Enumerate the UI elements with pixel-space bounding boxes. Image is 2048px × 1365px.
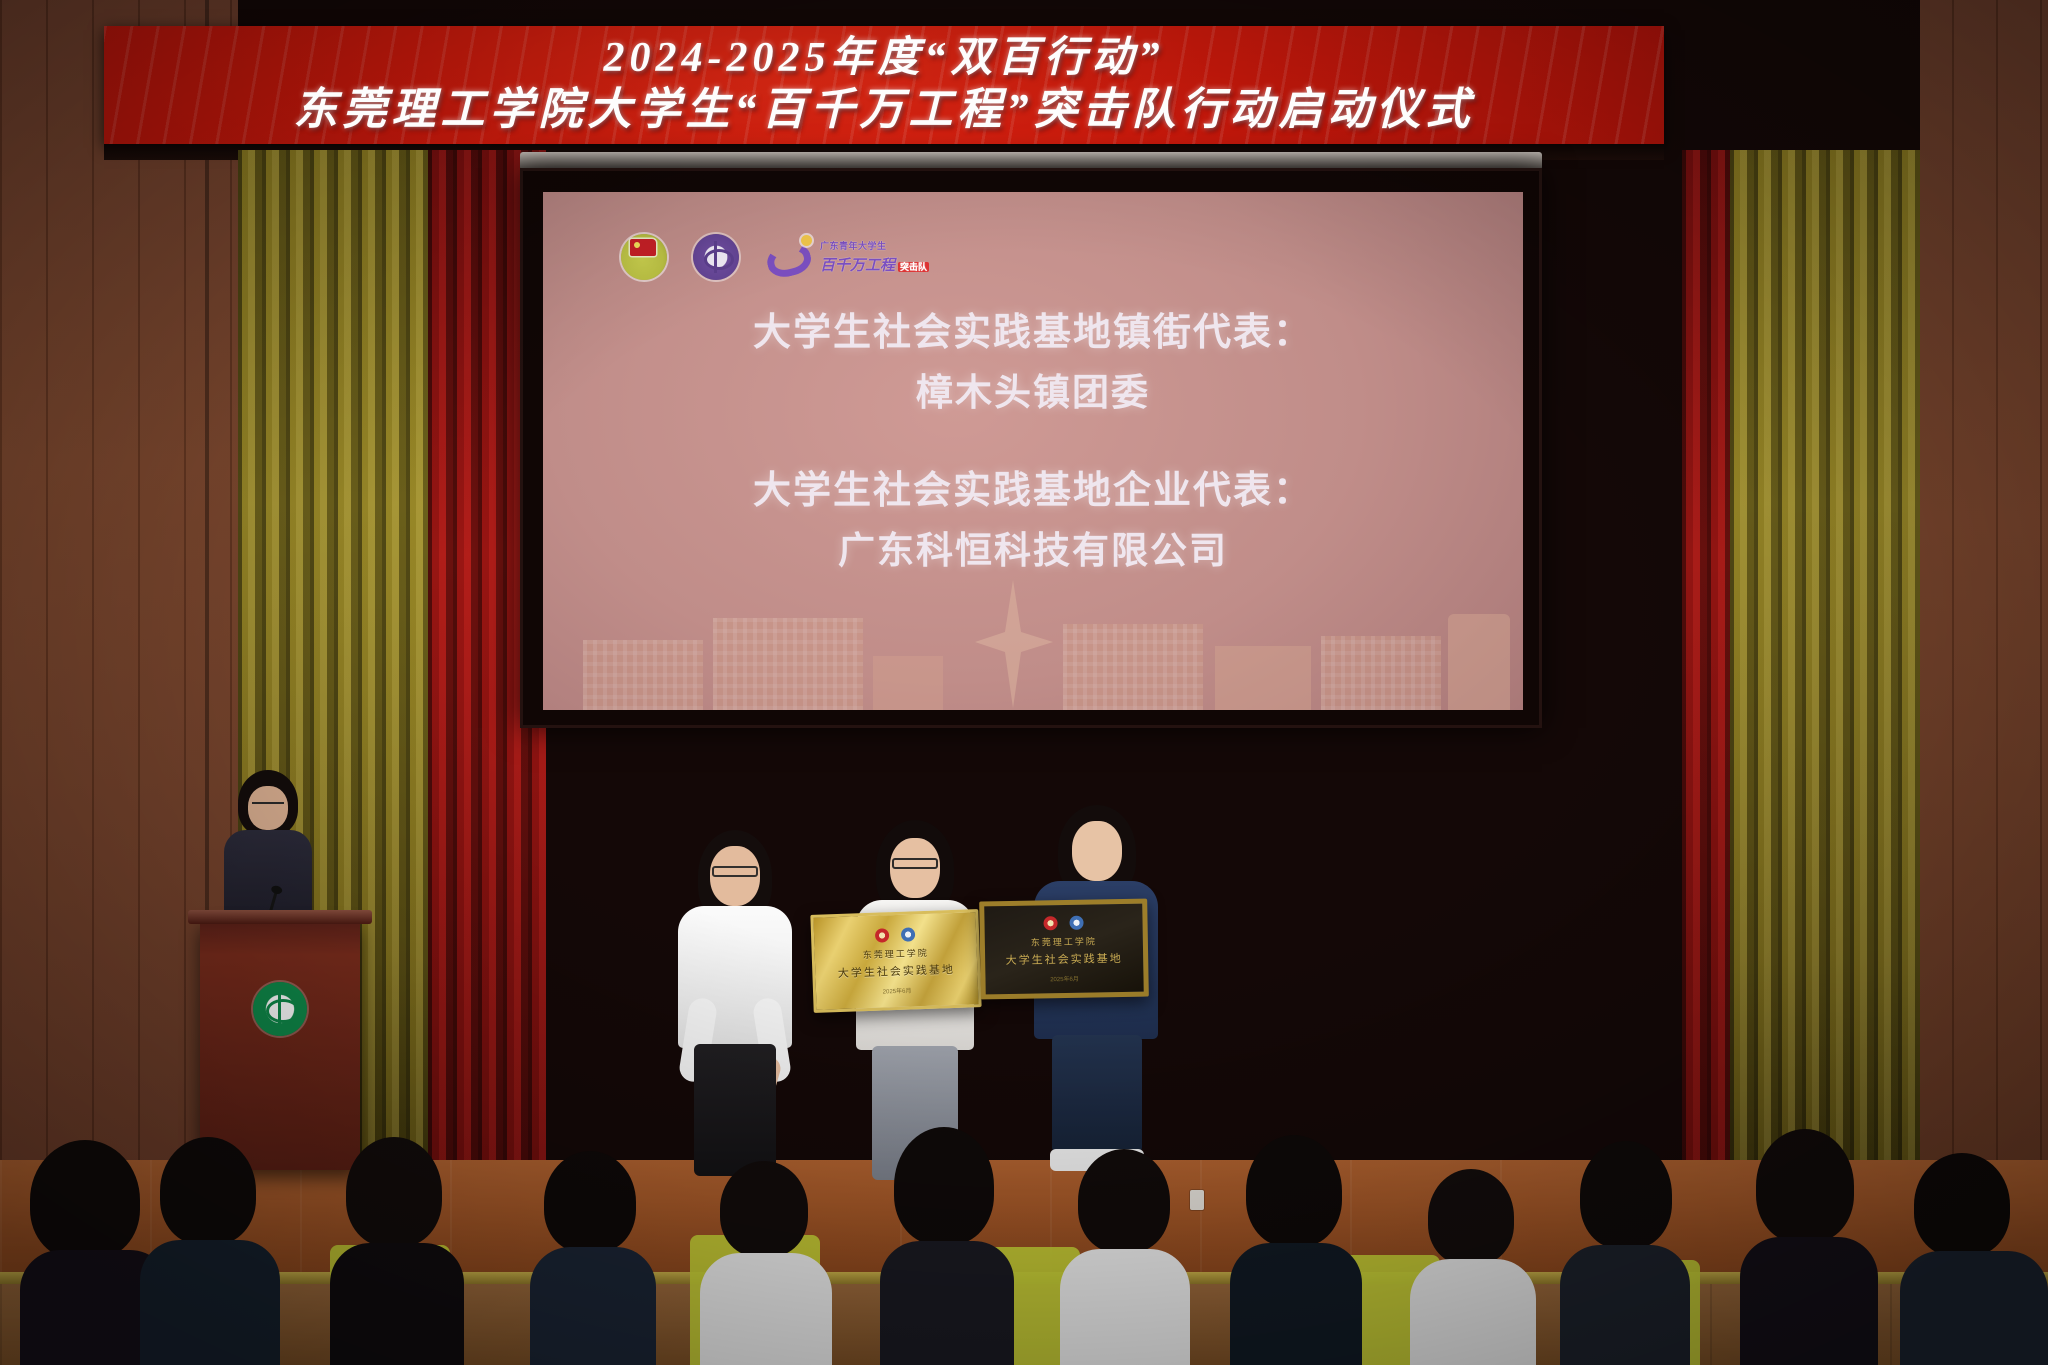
- slide-block-2-value: 广东科恒科技有限公司: [543, 520, 1523, 582]
- podium-top: [188, 910, 372, 924]
- glasses-icon: [712, 866, 758, 877]
- plaque-date: 2025年6月: [883, 985, 912, 995]
- red-seal-icon: [875, 928, 889, 942]
- plaque-line-1: 东莞理工学院: [1031, 934, 1097, 948]
- university-green-emblem-icon: [253, 982, 307, 1036]
- stage-person-usher: [660, 830, 810, 1175]
- banner-line-1: 2024-2025年度“双百行动”: [604, 33, 1165, 83]
- slide-block-2-heading: 大学生社会实践基地企业代表：: [543, 462, 1523, 520]
- award-plaque-dark: 东莞理工学院 大学生社会实践基地 2025年6月: [979, 899, 1149, 1000]
- baiqianwan-project-commando-logo: 广东青年大学生 百千万工程突击队: [765, 234, 929, 280]
- dongguan-university-of-technology-emblem-icon: [693, 234, 739, 280]
- slide-block-1-value: 樟木头镇团委: [543, 362, 1523, 424]
- bqw-logo-badge: 突击队: [898, 262, 929, 272]
- communist-youth-league-emblem-icon: [621, 234, 667, 280]
- award-plaque-gold: 东莞理工学院 大学生社会实践基地 2025年6月: [810, 909, 981, 1013]
- plaque-date: 2025年6月: [1050, 973, 1079, 982]
- person-trousers: [1052, 1035, 1142, 1153]
- slide-logo-row: 广东青年大学生 百千万工程突击队: [621, 234, 929, 280]
- glasses-icon: [892, 858, 938, 869]
- podium: [200, 920, 360, 1170]
- slide-text-body: 大学生社会实践基地镇街代表： 樟木头镇团委 大学生社会实践基地企业代表： 广东科…: [543, 304, 1523, 620]
- blue-seal-icon: [901, 927, 915, 941]
- plaque-line-2: 大学生社会实践基地: [838, 960, 955, 980]
- banner-line-2: 东莞理工学院大学生“百千万工程”突击队行动启动仪式: [294, 83, 1475, 137]
- audience-area: [0, 1150, 2048, 1365]
- projection-screen: 广东青年大学生 百千万工程突击队 大学生社会实践基地镇街代表： 樟木头镇团委 大…: [543, 192, 1523, 710]
- speaker-glasses-icon: [252, 802, 284, 810]
- auditorium-ceremony-photo: 2024-2025年度“双百行动” 东莞理工学院大学生“百千万工程”突击队行动启…: [0, 0, 2048, 1365]
- bqw-logo-main-text: 百千万工程: [820, 258, 895, 274]
- event-banner: 2024-2025年度“双百行动” 东莞理工学院大学生“百千万工程”突击队行动启…: [104, 26, 1664, 144]
- plaque-line-2: 大学生社会实践基地: [1006, 949, 1123, 967]
- slide-block-1-heading: 大学生社会实践基地镇街代表：: [543, 304, 1523, 362]
- blue-seal-icon: [1069, 915, 1083, 929]
- plaque-line-1: 东莞理工学院: [862, 945, 928, 960]
- plaque-seal-row: [1043, 915, 1083, 930]
- swoosh-icon: [765, 234, 815, 280]
- person-face: [1072, 821, 1122, 881]
- person-torso: [678, 906, 792, 1048]
- bqw-logo-top-text: 广东青年大学生: [820, 239, 929, 252]
- curtain-gold-right: [1730, 150, 1920, 1160]
- plaque-seal-row: [875, 927, 915, 942]
- right-wood-wall: [1908, 0, 2048, 1160]
- red-seal-icon: [1043, 916, 1057, 930]
